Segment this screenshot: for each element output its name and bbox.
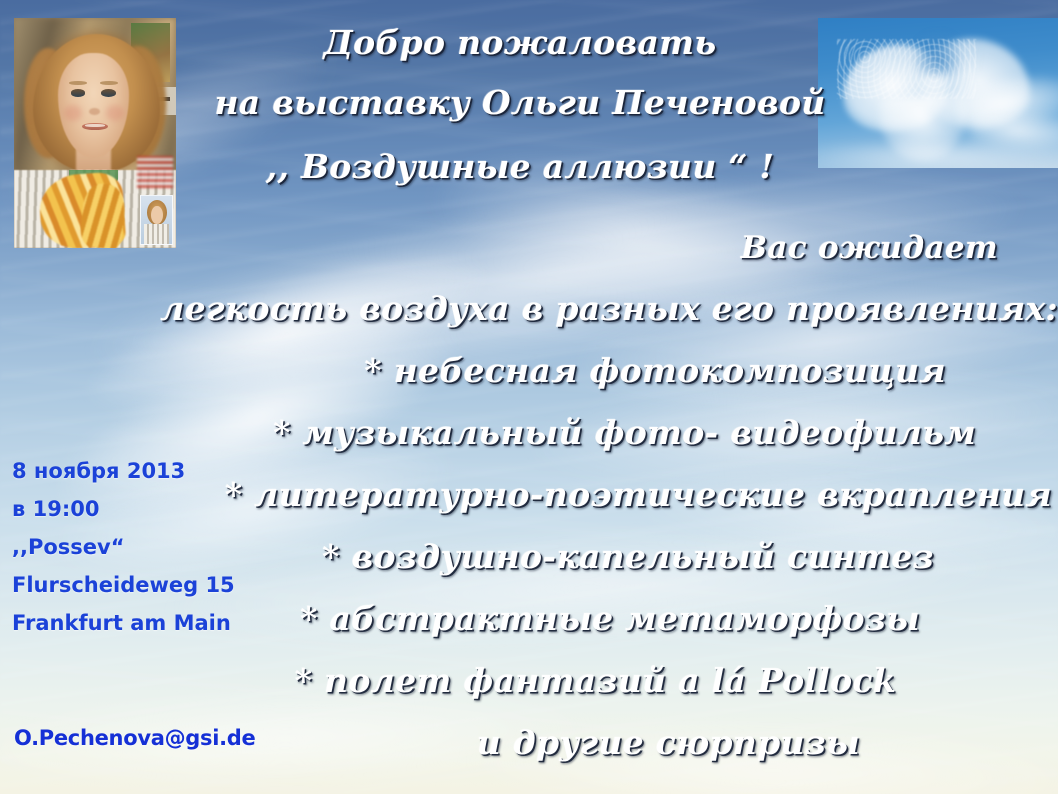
portrait-eyebrow-right <box>100 81 118 85</box>
closing-text: и другие сюрпризы <box>150 712 1058 774</box>
portrait-bg-flag <box>137 156 173 188</box>
await-label: Вас ожидает <box>150 218 1058 278</box>
offer-item: * небесная фотокомпозиция <box>150 340 1058 402</box>
event-date: 8 ноября 2013 <box>12 452 312 490</box>
contact-email[interactable]: O.Pechenova@gsi.de <box>14 726 255 750</box>
headline-block: Добро пожаловать на выставку Ольги Печен… <box>170 14 870 199</box>
invitation-poster: Добро пожаловать на выставку Ольги Печен… <box>0 0 1058 794</box>
venue-city: Frankfurt am Main <box>12 604 312 642</box>
headline-line-2: на выставку Ольги Печеновой <box>170 71 870 135</box>
event-time: в 19:00 <box>12 490 312 528</box>
lead-text: легкость воздуха в разных его проявления… <box>150 278 1058 340</box>
portrait-eye-left <box>71 89 86 96</box>
venue-street: Flurscheideweg 15 <box>12 566 312 604</box>
portrait-eyebrow-left <box>69 81 87 85</box>
venue-name: ,,Possev“ <box>12 528 312 566</box>
offer-item: * полет фантазий a lá Pollock <box>150 650 1058 712</box>
venue-details-block: 8 ноября 2013 в 19:00 ,,Possev“ Flursche… <box>12 452 312 642</box>
headline-line-1: Добро пожаловать <box>170 14 870 71</box>
portrait-eye-right <box>101 89 116 96</box>
headline-line-3: ,, Воздушные аллюзии “ ! <box>170 135 870 199</box>
artist-portrait-photo <box>14 18 176 248</box>
portrait-nose <box>89 108 100 115</box>
